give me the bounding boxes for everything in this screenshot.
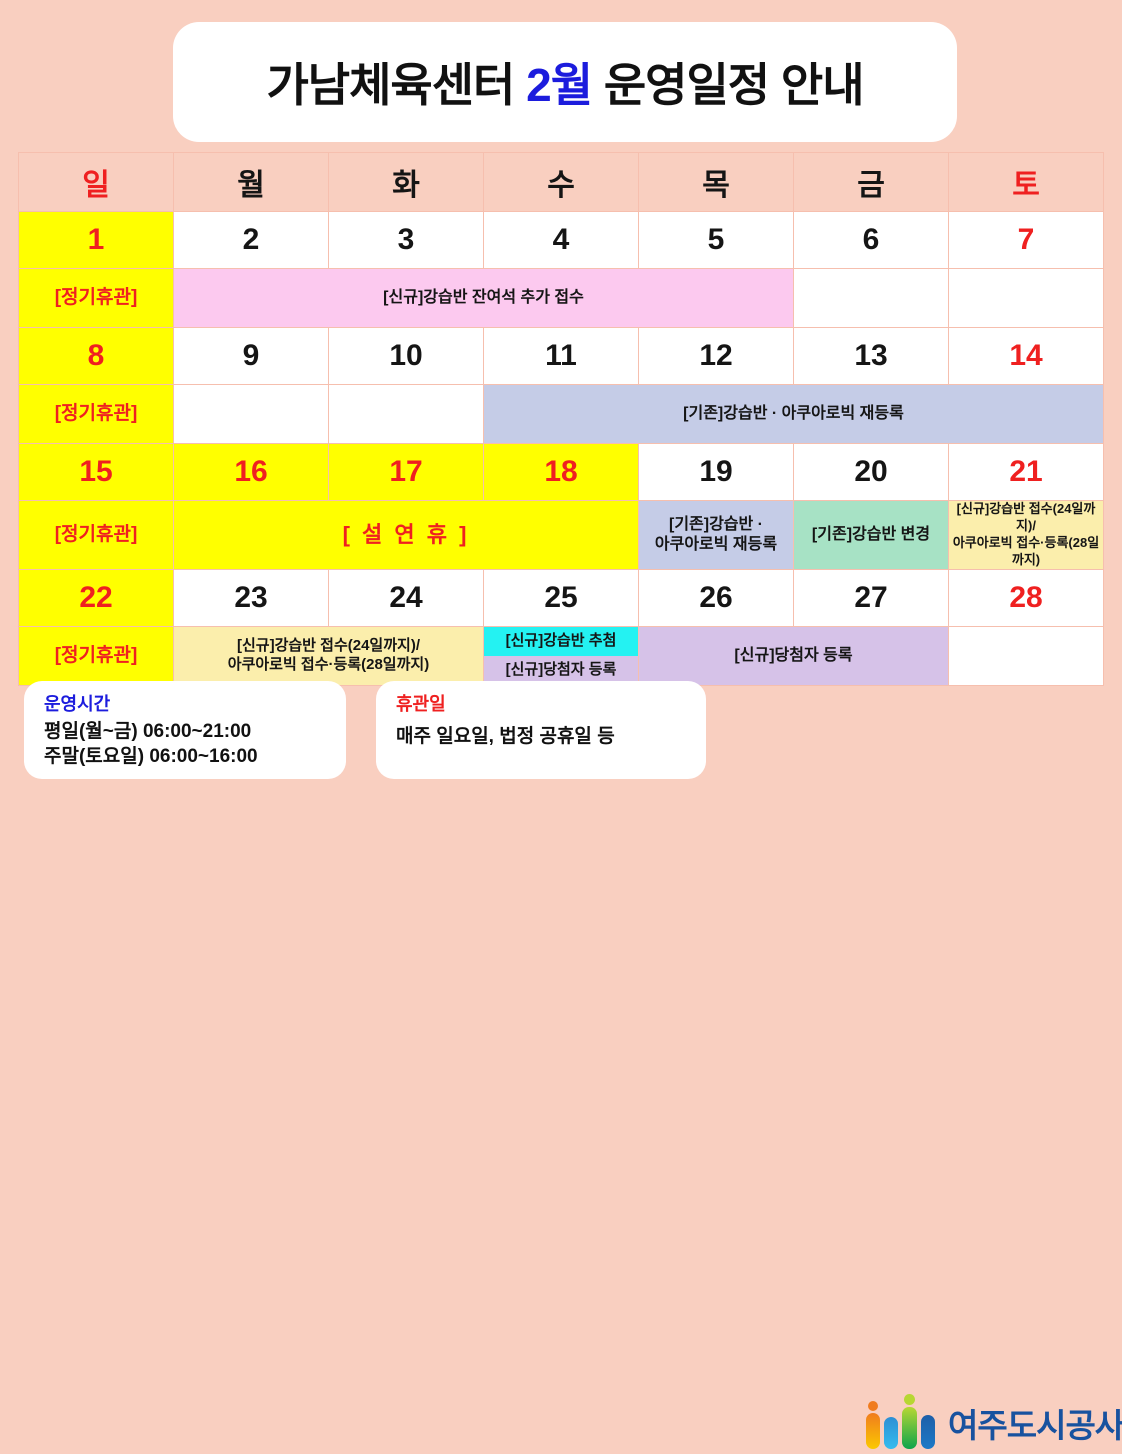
event-new-apply-w3-line1: [신규]강습반 접수(24일까지)/ [949, 501, 1103, 535]
event-existing-reregister-week-3: [기존]강습반 · 아쿠아로빅 재등록 [639, 501, 794, 570]
event-new-apply-w3-line2: 아쿠아로빅 접수·등록(28일까지) [949, 535, 1103, 569]
date-cell-2[interactable]: 2 [174, 212, 329, 269]
date-cell-20[interactable]: 20 [794, 444, 949, 501]
organization-name: 여주도시공사 [948, 1399, 1122, 1447]
event-existing-reregister-week-2: [기존]강습반 · 아쿠아로빅 재등록 [484, 385, 1104, 444]
date-cell-16[interactable]: 16 [174, 444, 329, 501]
date-cell-23[interactable]: 23 [174, 569, 329, 626]
title-month-accent: 2월 [526, 59, 592, 111]
closed-days-box: 휴관일 매주 일요일, 법정 공휴일 등 [376, 681, 706, 779]
operating-hours-box: 운영시간 평일(월~금) 06:00~21:00 주말(토요일) 06:00~1… [24, 681, 346, 779]
figure-body-darkblue-icon [921, 1415, 935, 1449]
event-split-cell-wed: [신규]강습반 추첨 [신규]당첨자 등록 [484, 626, 639, 685]
date-cell-8[interactable]: 8 [19, 328, 174, 385]
date-cell-28[interactable]: 28 [949, 569, 1104, 626]
figure-body-orange-icon [866, 1413, 880, 1449]
date-row-week-3: 15 16 17 18 19 20 21 [19, 444, 1104, 501]
date-cell-13[interactable]: 13 [794, 328, 949, 385]
closed-days-heading: 휴관일 [396, 690, 688, 716]
weekday-header-wed: 수 [484, 153, 639, 212]
date-row-week-4: 22 23 24 25 26 27 28 [19, 569, 1104, 626]
event-closed-week-4: [정기휴관] [19, 626, 174, 685]
organization-logo: 여주도시공사 [864, 1392, 1122, 1454]
date-row-week-1: 1 2 3 4 5 6 7 [19, 212, 1104, 269]
date-cell-11[interactable]: 11 [484, 328, 639, 385]
date-cell-3[interactable]: 3 [329, 212, 484, 269]
date-cell-26[interactable]: 26 [639, 569, 794, 626]
weekday-header-row: 일 월 화 수 목 금 토 [19, 153, 1104, 212]
event-new-apply-w4-line1: [신규]강습반 접수(24일까지)/ [174, 637, 483, 656]
figure-head-orange-icon [868, 1401, 878, 1411]
date-cell-21[interactable]: 21 [949, 444, 1104, 501]
event-new-apply-week-4: [신규]강습반 접수(24일까지)/ 아쿠아로빅 접수·등록(28일까지) [174, 626, 484, 685]
event-existing-class-change: [기존]강습반 변경 [794, 501, 949, 570]
event-existing-reregister-line1: [기존]강습반 · [639, 515, 793, 535]
date-cell-17[interactable]: 17 [329, 444, 484, 501]
date-cell-25[interactable]: 25 [484, 569, 639, 626]
event-existing-reregister-line2: 아쿠아로빅 재등록 [639, 535, 793, 555]
event-row-week-4: [정기휴관] [신규]강습반 접수(24일까지)/ 아쿠아로빅 접수·등록(28… [19, 626, 1104, 685]
event-row-week-1: [정기휴관] [신규]강습반 잔여석 추가 접수 [19, 269, 1104, 328]
event-empty-w2-mon [174, 385, 329, 444]
title-prefix: 가남체육센터 [266, 59, 514, 111]
date-cell-9[interactable]: 9 [174, 328, 329, 385]
weekday-header-mon: 월 [174, 153, 329, 212]
event-empty-w1-fri [794, 269, 949, 328]
date-cell-22[interactable]: 22 [19, 569, 174, 626]
date-cell-14[interactable]: 14 [949, 328, 1104, 385]
date-cell-5[interactable]: 5 [639, 212, 794, 269]
date-cell-1[interactable]: 1 [19, 212, 174, 269]
operating-hours-heading: 운영시간 [44, 690, 328, 716]
event-closed-week-3: [정기휴관] [19, 501, 174, 570]
closed-days-detail: 매주 일요일, 법정 공휴일 등 [396, 724, 688, 749]
date-cell-4[interactable]: 4 [484, 212, 639, 269]
date-cell-19[interactable]: 19 [639, 444, 794, 501]
weekday-header-fri: 금 [794, 153, 949, 212]
event-empty-w1-sat [949, 269, 1104, 328]
figure-body-blue-icon [884, 1417, 898, 1449]
weekday-header-tue: 화 [329, 153, 484, 212]
event-new-remaining-seats: [신규]강습반 잔여석 추가 접수 [174, 269, 794, 328]
date-row-week-2: 8 9 10 11 12 13 14 [19, 328, 1104, 385]
date-cell-18[interactable]: 18 [484, 444, 639, 501]
event-lunar-new-year-holiday: [ 설 연 휴 ] [174, 501, 639, 570]
event-row-week-3: [정기휴관] [ 설 연 휴 ] [기존]강습반 · 아쿠아로빅 재등록 [기존… [19, 501, 1104, 570]
figure-body-green-icon [902, 1407, 917, 1449]
event-winner-register-span: [신규]당첨자 등록 [639, 626, 949, 685]
event-empty-w2-tue [329, 385, 484, 444]
date-cell-12[interactable]: 12 [639, 328, 794, 385]
event-new-apply-w4-line2: 아쿠아로빅 접수·등록(28일까지) [174, 656, 483, 675]
event-new-lottery: [신규]강습반 추첨 [484, 627, 638, 656]
weekday-header-sun: 일 [19, 153, 174, 212]
operating-hours-weekday: 평일(월~금) 06:00~21:00 [44, 719, 328, 744]
date-cell-10[interactable]: 10 [329, 328, 484, 385]
event-closed-week-2: [정기휴관] [19, 385, 174, 444]
weekday-header-thu: 목 [639, 153, 794, 212]
date-cell-7[interactable]: 7 [949, 212, 1104, 269]
event-new-apply-week-3: [신규]강습반 접수(24일까지)/ 아쿠아로빅 접수·등록(28일까지) [949, 501, 1104, 570]
monthly-schedule-calendar: 일 월 화 수 목 금 토 1 2 3 4 5 6 7 [정기휴관] [신규]강… [18, 152, 1104, 686]
people-figures-icon [864, 1395, 936, 1451]
weekday-header-sat: 토 [949, 153, 1104, 212]
date-cell-27[interactable]: 27 [794, 569, 949, 626]
title-banner: 가남체육센터 2월 운영일정 안내 [173, 22, 957, 142]
date-cell-15[interactable]: 15 [19, 444, 174, 501]
date-cell-24[interactable]: 24 [329, 569, 484, 626]
operating-hours-weekend: 주말(토요일) 06:00~16:00 [44, 744, 328, 769]
event-closed-week-1: [정기휴관] [19, 269, 174, 328]
footer-area: 운영시간 평일(월~금) 06:00~21:00 주말(토요일) 06:00~1… [18, 681, 1104, 781]
page-title: 가남체육센터 2월 운영일정 안내 [266, 49, 863, 115]
figure-head-green-icon [904, 1394, 915, 1405]
title-suffix: 운영일정 안내 [604, 59, 864, 111]
event-row-week-2: [정기휴관] [기존]강습반 · 아쿠아로빅 재등록 [19, 385, 1104, 444]
event-empty-w4-sat [949, 626, 1104, 685]
date-cell-6[interactable]: 6 [794, 212, 949, 269]
